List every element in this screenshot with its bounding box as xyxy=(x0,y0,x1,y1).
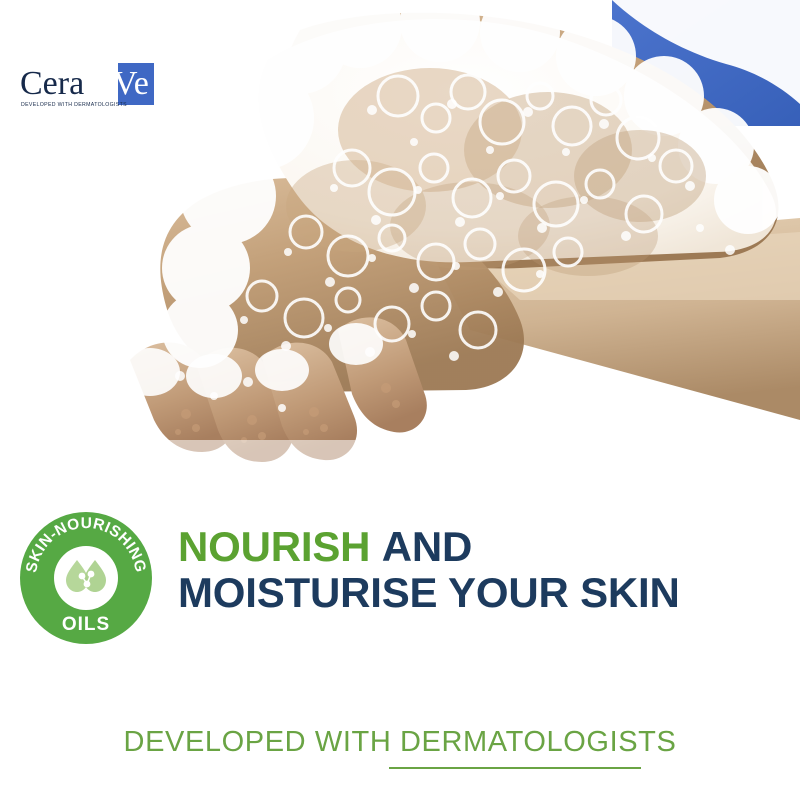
logo-tagline: DEVELOPED WITH DERMATOLOGISTS xyxy=(21,102,127,108)
logo-wordmark-cera: Cera xyxy=(20,65,84,102)
cerave-logo-artwork: Cera Ve DEVELOPED WITH DERMATOLOGISTS xyxy=(18,58,158,116)
ad-creative: Cera Ve DEVELOPED WITH DERMATOLOGISTS SK… xyxy=(0,0,800,800)
footer-tagline-underline xyxy=(389,767,641,769)
headline-line-1: NOURISH AND xyxy=(178,524,778,570)
headline-line-2: MOISTURISE YOUR SKIN xyxy=(178,570,778,616)
badge-bottom-label: OILS xyxy=(62,614,110,635)
headline: NOURISH AND MOISTURISE YOUR SKIN xyxy=(178,524,778,616)
footer-tagline: DEVELOPED WITH DERMATOLOGISTS xyxy=(0,726,800,759)
badge-artwork: SKIN-NOURISHING OILS xyxy=(18,510,154,646)
cerave-logo[interactable]: Cera Ve DEVELOPED WITH DERMATOLOGISTS xyxy=(18,58,158,116)
skin-nourishing-oils-badge: SKIN-NOURISHING OILS xyxy=(18,510,154,646)
footer-tagline-text: DEVELOPED WITH DERMATOLOGISTS xyxy=(124,726,677,759)
headline-highlight-word: NOURISH xyxy=(178,523,370,570)
headline-line-1-rest: AND xyxy=(382,523,472,570)
logo-wordmark-ve: Ve xyxy=(113,65,149,102)
